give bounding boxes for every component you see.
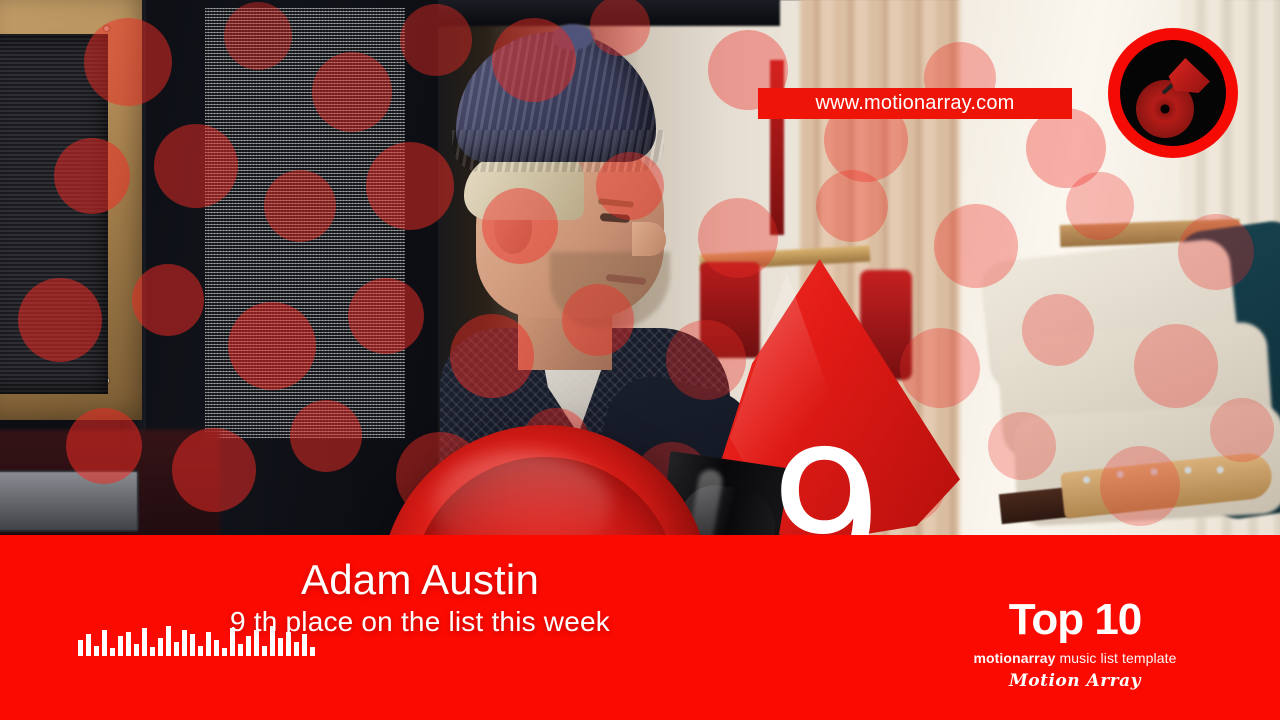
tuning-peg bbox=[1216, 466, 1224, 474]
equalizer-bar bbox=[278, 638, 283, 656]
equalizer-bar bbox=[118, 636, 123, 656]
logo-inner-disc bbox=[1120, 40, 1226, 146]
video-frame: 9 Adam Austin 9 th place on the list thi… bbox=[0, 0, 1280, 720]
brand-tagline-rest: music list template bbox=[1055, 650, 1176, 666]
nose bbox=[632, 222, 666, 256]
brand-title: Top 10 bbox=[930, 598, 1220, 642]
equalizer-bar bbox=[174, 642, 179, 656]
equalizer-bar bbox=[310, 647, 315, 656]
brand-tagline: motionarray music list template bbox=[930, 650, 1220, 666]
tuning-peg bbox=[1184, 466, 1192, 474]
tuning-peg bbox=[1083, 476, 1091, 484]
tuning-peg bbox=[1116, 470, 1124, 478]
artist-name: Adam Austin bbox=[0, 556, 840, 604]
brand-script-logo: Motion Array bbox=[930, 671, 1220, 691]
red-stand bbox=[770, 60, 784, 235]
url-banner[interactable]: www.motionarray.com bbox=[758, 88, 1072, 119]
gramophone-record-logo-icon[interactable] bbox=[1108, 28, 1238, 158]
brand-block: Top 10 motionarray music list template M… bbox=[930, 598, 1220, 691]
beanie-brim bbox=[452, 130, 664, 172]
amp-grill-left bbox=[0, 34, 108, 394]
tuning-peg bbox=[1150, 468, 1158, 476]
equalizer-bar bbox=[198, 646, 203, 656]
rank-subtitle: 9 th place on the list this week bbox=[0, 606, 840, 638]
equalizer-bar bbox=[262, 646, 267, 656]
equalizer-bar bbox=[222, 648, 227, 656]
equalizer-bar bbox=[214, 640, 219, 656]
equalizer-bar bbox=[94, 646, 99, 656]
effects-pedal bbox=[0, 470, 139, 532]
equalizer-bar bbox=[110, 648, 115, 656]
equalizer-bar bbox=[158, 638, 163, 656]
equalizer-bar bbox=[134, 644, 139, 656]
equalizer-bar bbox=[78, 640, 83, 656]
equalizer-bar bbox=[238, 644, 243, 656]
equalizer-bar bbox=[246, 636, 251, 656]
brand-tagline-bold: motionarray bbox=[973, 650, 1055, 666]
beanie-tip bbox=[552, 24, 594, 50]
amp-screw bbox=[104, 26, 109, 31]
equalizer-bar bbox=[294, 642, 299, 656]
equalizer-bar bbox=[150, 647, 155, 656]
